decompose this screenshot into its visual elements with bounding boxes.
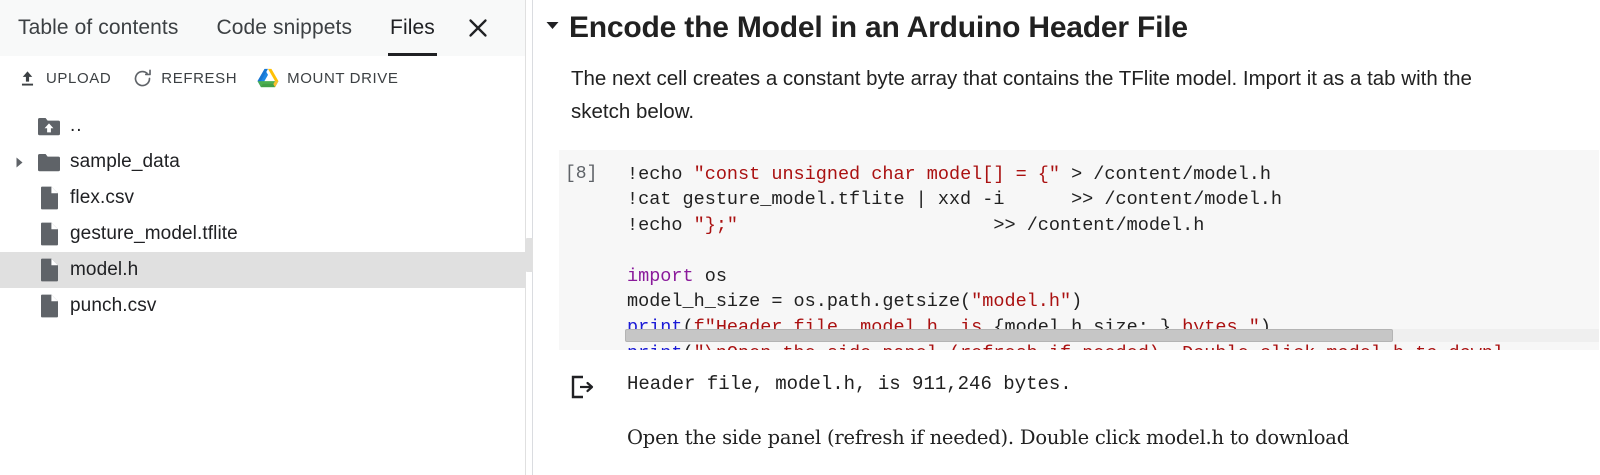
code-token: "};" [694, 215, 738, 236]
code-token: import [627, 266, 694, 287]
upload-icon [16, 67, 38, 89]
output-line-2: Open the side panel (refresh if needed).… [627, 426, 1600, 449]
file-name: flex.csv [70, 187, 134, 209]
file-row-punch-csv[interactable]: punch.csv [0, 288, 525, 324]
file-icon [32, 222, 66, 246]
file-row-gesture-model-tflite[interactable]: gesture_model.tflite [0, 216, 525, 252]
code-horizontal-scrollbar[interactable] [625, 329, 1393, 342]
chevron-right-icon[interactable] [6, 156, 32, 169]
refresh-icon [131, 67, 153, 89]
file-name: model.h [70, 259, 138, 281]
code-token: print [627, 343, 683, 350]
cell-output: Header file, model.h, is 911,246 bytes. [559, 370, 1600, 400]
output-arrow-icon [559, 370, 627, 400]
file-list: .. sample_data [0, 100, 525, 475]
code-token: ( [683, 343, 694, 350]
file-row-flex-csv[interactable]: flex.csv [0, 180, 525, 216]
execution-count: [8] [559, 150, 627, 350]
file-icon [32, 294, 66, 318]
upload-label: UPLOAD [46, 70, 111, 87]
folder-icon [32, 152, 66, 173]
tab-table-of-contents[interactable]: Table of contents [18, 0, 178, 56]
markdown-heading-row: Encode the Model in an Arduino Header Fi… [533, 0, 1600, 50]
code-editor[interactable]: !echo "const unsigned char model[] = {" … [627, 150, 1599, 350]
upload-button[interactable]: UPLOAD [10, 63, 121, 93]
file-row-parent[interactable]: .. [0, 108, 525, 144]
google-drive-icon [257, 67, 279, 89]
code-token: >> /content/model.h [738, 215, 1204, 236]
code-token: >> /content/model.h [1004, 189, 1282, 210]
page-title: Encode the Model in an Arduino Header Fi… [569, 6, 1188, 50]
parent-folder-icon [32, 116, 66, 137]
tab-code-snippets[interactable]: Code snippets [216, 0, 352, 56]
file-name: punch.csv [70, 295, 156, 317]
code-token: !echo [627, 164, 694, 185]
file-name: gesture_model.tflite [70, 223, 238, 245]
code-token: ) [1071, 291, 1082, 312]
files-side-panel: Table of contents Code snippets Files UP… [0, 0, 525, 475]
code-token: os [694, 266, 727, 287]
refresh-button[interactable]: REFRESH [125, 63, 247, 93]
code-token: "const unsigned char model[] = {" [694, 164, 1060, 185]
chevron-down-icon[interactable] [535, 6, 569, 30]
notebook-area: Encode the Model in an Arduino Header Fi… [525, 0, 1600, 475]
code-token: "model.h" [971, 291, 1071, 312]
code-token: model_h_size = os.path.getsize( [627, 291, 971, 312]
refresh-label: REFRESH [161, 70, 237, 87]
file-icon [32, 258, 66, 282]
code-cell[interactable]: [8] !echo "const unsigned char model[] =… [559, 150, 1599, 350]
file-row-sample-data[interactable]: sample_data [0, 144, 525, 180]
code-source[interactable]: !echo "const unsigned char model[] = {" … [627, 162, 1599, 350]
side-panel-tab-bar: Table of contents Code snippets Files [0, 0, 525, 56]
code-token: !echo [627, 215, 694, 236]
mount-drive-button[interactable]: MOUNT DRIVE [251, 63, 408, 93]
markdown-paragraph: The next cell creates a constant byte ar… [571, 62, 1516, 128]
file-name: sample_data [70, 151, 180, 173]
close-icon[interactable] [461, 11, 495, 45]
panel-resize-handle[interactable] [525, 0, 533, 475]
file-row-model-h[interactable]: model.h [0, 252, 525, 288]
mount-drive-label: MOUNT DRIVE [287, 70, 398, 87]
code-token: "\nOpen the side panel (refresh if neede… [694, 343, 1504, 350]
code-token: !cat gesture_model.tflite | xxd -i [627, 189, 1004, 210]
resize-grip[interactable] [526, 238, 533, 272]
files-toolbar: UPLOAD REFRESH [0, 56, 525, 100]
output-line-1: Header file, model.h, is 911,246 bytes. [627, 370, 1072, 399]
file-name: .. [70, 115, 83, 137]
code-token: > /content/model.h [1060, 164, 1271, 185]
tab-files[interactable]: Files [390, 0, 435, 56]
colab-window: Table of contents Code snippets Files UP… [0, 0, 1600, 475]
file-icon [32, 186, 66, 210]
